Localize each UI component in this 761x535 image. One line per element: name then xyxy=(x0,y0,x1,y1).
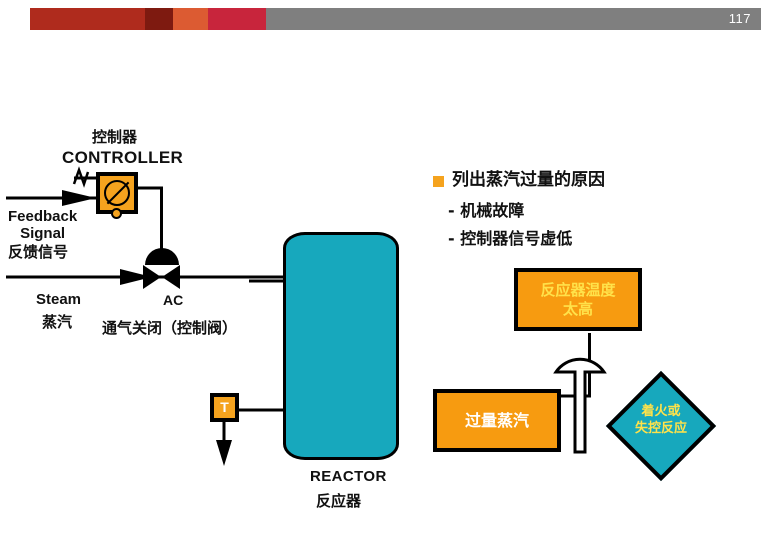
reactor-vessel[interactable] xyxy=(283,232,399,460)
steam-label-cn: 蒸汽 xyxy=(42,313,72,331)
reactor-label-en: REACTOR xyxy=(310,468,387,485)
controller-nub-icon xyxy=(111,208,122,219)
feedback-signal-label-en: Feedback Signal xyxy=(8,208,77,243)
reactor-label-cn: 反应器 xyxy=(316,492,361,510)
bullet-main-text: 列出蒸汽过量的原因 xyxy=(452,170,605,190)
box-reactor-temp-high-line2: 太高 xyxy=(540,300,615,319)
steam-label-en: Steam xyxy=(36,291,81,308)
bullet-sub-item-2: - 控制器信号虚低 xyxy=(448,229,572,248)
slide-canvas: 117 控制器 CONTROLLER xyxy=(0,0,761,535)
bullet-sub-item-1: - 机械故障 xyxy=(448,201,524,220)
diamond-fire-runaway-text: 着火或 失控反应 xyxy=(606,404,716,438)
feedback-signal-label-line1: Feedback xyxy=(8,208,77,225)
valve-label-en: AC xyxy=(163,292,183,308)
feedback-signal-label-line2: Signal xyxy=(8,225,77,242)
bullet-marker-icon xyxy=(433,176,444,187)
controller-title-cn: 控制器 xyxy=(92,128,137,146)
box-excess-steam[interactable]: 过量蒸汽 xyxy=(433,389,561,452)
box-reactor-temp-high-line1: 反应器温度 xyxy=(540,281,615,300)
feedback-signal-label-cn: 反馈信号 xyxy=(8,243,68,261)
temperature-sensor-icon[interactable]: T xyxy=(210,393,239,422)
valve-label-cn: 通气关闭（控制阀） xyxy=(102,319,237,337)
diamond-text-line2: 失控反应 xyxy=(606,421,716,438)
box-reactor-temp-high[interactable]: 反应器温度 太高 xyxy=(514,268,642,331)
diamond-fire-runaway[interactable]: 着火或 失控反应 xyxy=(606,371,716,481)
diamond-text-line1: 着火或 xyxy=(606,404,716,421)
controller-symbol-icon[interactable] xyxy=(96,172,138,214)
controller-title-en: CONTROLLER xyxy=(62,148,183,168)
